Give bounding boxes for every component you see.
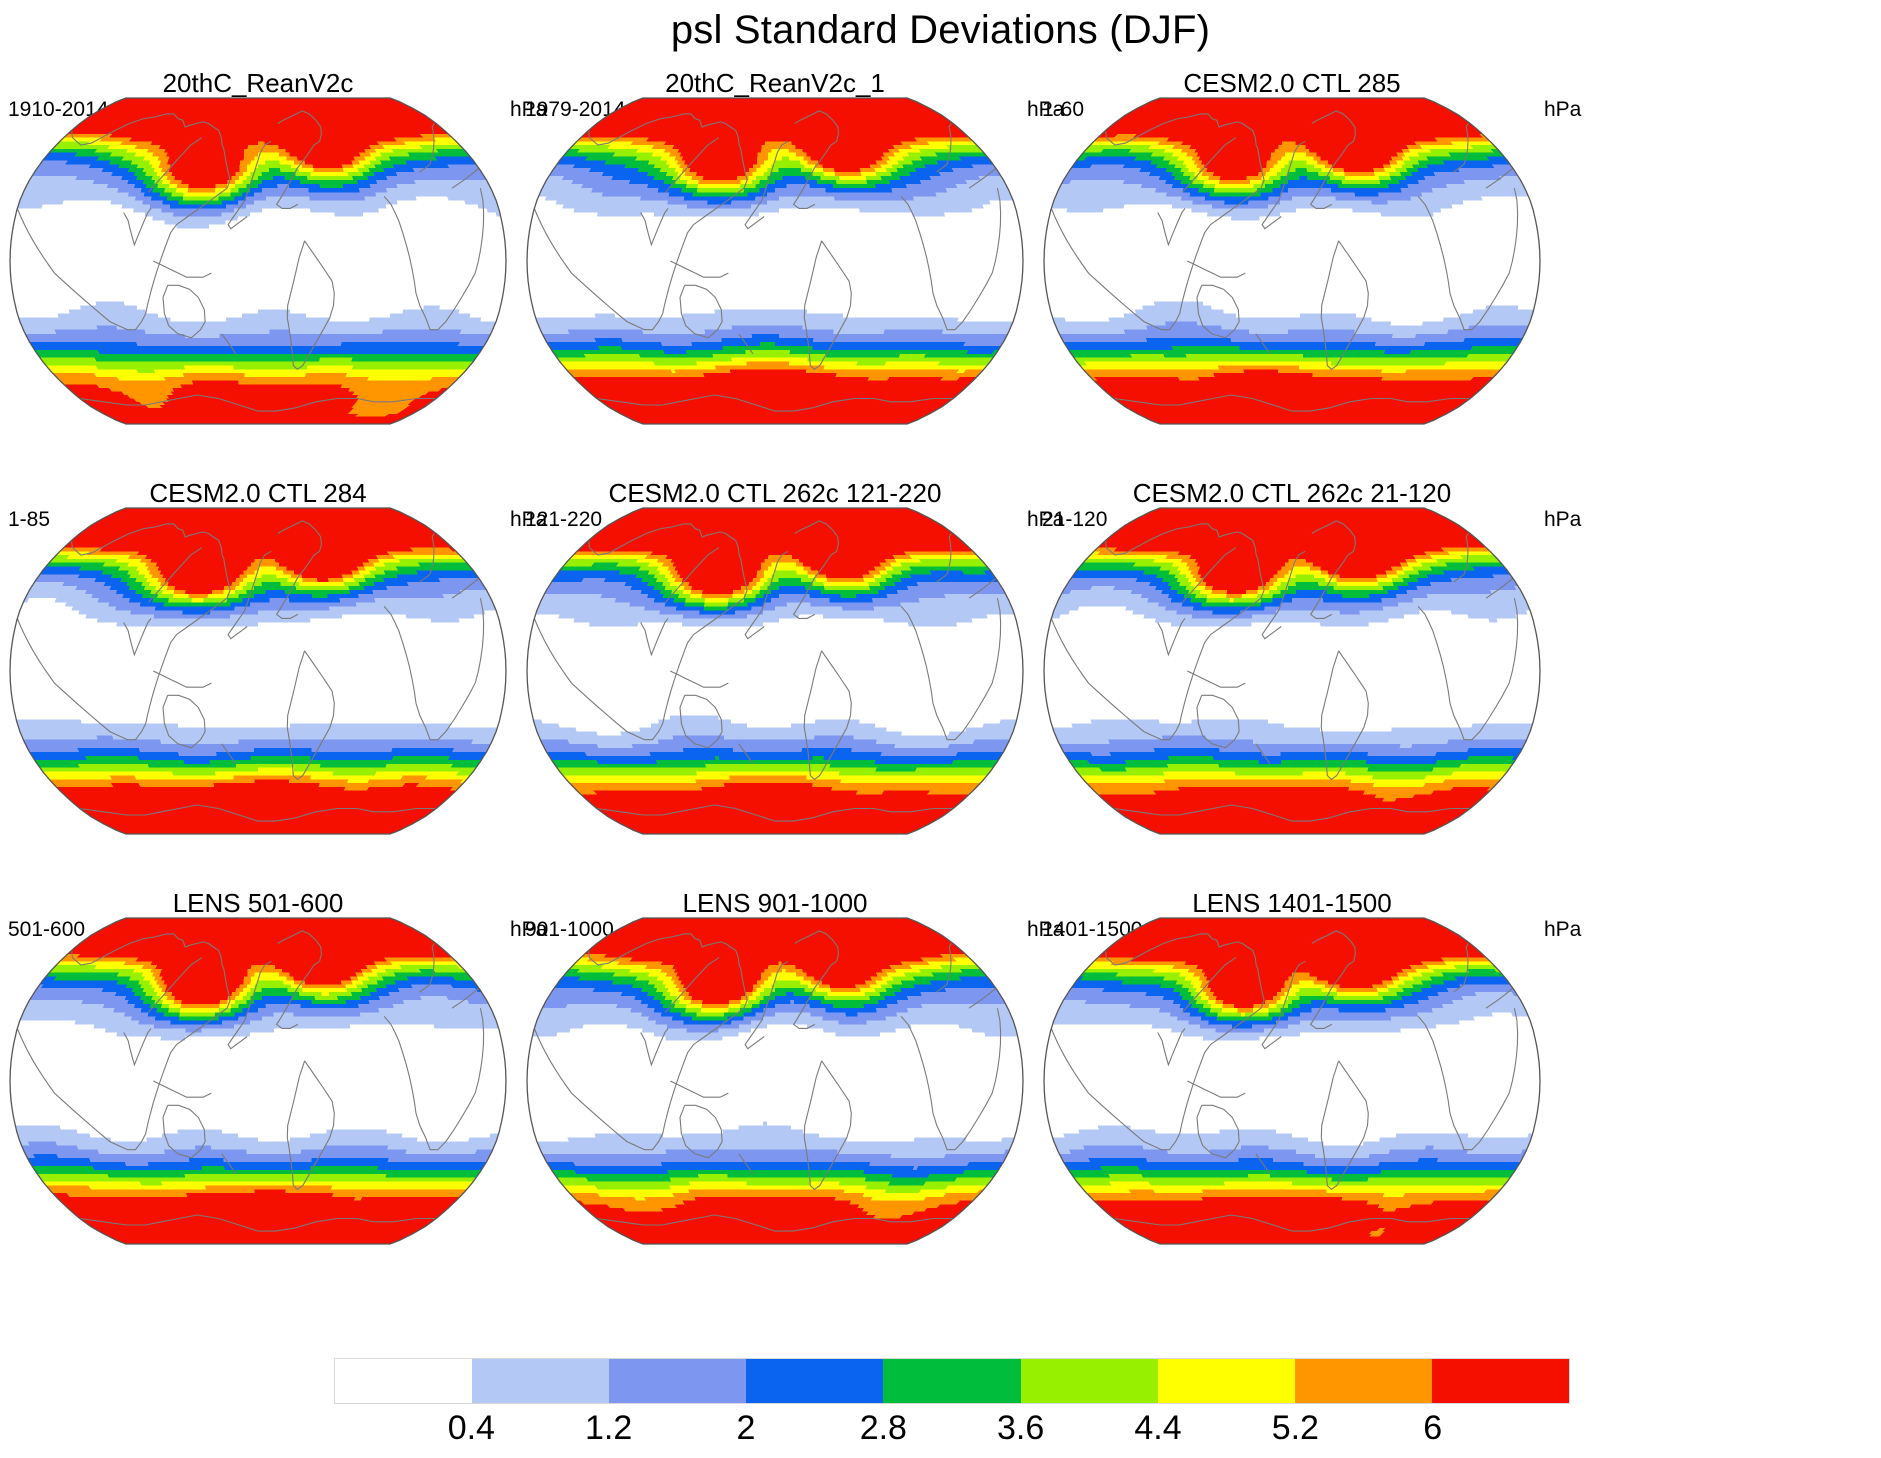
colorbar-segment[interactable] <box>609 1359 746 1403</box>
colorbar-segment[interactable] <box>335 1359 472 1403</box>
panel-title: 20thC_ReanV2c <box>8 68 508 98</box>
colorbar-segment[interactable] <box>1021 1359 1158 1403</box>
colorbar: 0.41.222.83.64.45.26 <box>334 1358 1570 1458</box>
colorbar-tick: 6 <box>1423 1406 1442 1450</box>
panel-units-label: hPa <box>1544 98 1581 122</box>
world-map[interactable] <box>525 506 1025 836</box>
panel-title: CESM2.0 CTL 285 <box>1042 68 1542 98</box>
colorbar-strip[interactable] <box>334 1358 1570 1404</box>
world-map[interactable] <box>8 506 508 836</box>
colorbar-tick: 3.6 <box>997 1406 1044 1450</box>
colorbar-segment[interactable] <box>1432 1359 1569 1403</box>
colorbar-segment[interactable] <box>883 1359 1020 1403</box>
world-map[interactable] <box>525 916 1025 1246</box>
panel-title: LENS 1401-1500 <box>1042 888 1542 918</box>
map-panel: LENS 1401-15001401-1500hPa <box>1042 888 1880 1253</box>
panel-title: CESM2.0 CTL 262c 21-120 <box>1042 478 1542 508</box>
map-panel: CESM2.0 CTL 2851-60hPa <box>1042 68 1880 433</box>
colorbar-segment[interactable] <box>472 1359 609 1403</box>
world-map[interactable] <box>8 916 508 1246</box>
colorbar-segment[interactable] <box>746 1359 883 1403</box>
colorbar-segment[interactable] <box>1158 1359 1295 1403</box>
world-map[interactable] <box>1042 916 1542 1246</box>
world-map[interactable] <box>525 96 1025 426</box>
panel-units-label: hPa <box>1544 918 1581 942</box>
colorbar-tick: 4.4 <box>1134 1406 1181 1450</box>
panel-title: LENS 501-600 <box>8 888 508 918</box>
figure-title: psl Standard Deviations (DJF) <box>0 4 1881 56</box>
colorbar-tick: 2 <box>737 1406 756 1450</box>
colorbar-segment[interactable] <box>1295 1359 1432 1403</box>
panel-units-label: hPa <box>1544 508 1581 532</box>
world-map[interactable] <box>8 96 508 426</box>
colorbar-tick-labels: 0.41.222.83.64.45.26 <box>334 1406 1570 1452</box>
world-map[interactable] <box>1042 506 1542 836</box>
colorbar-tick: 5.2 <box>1272 1406 1319 1450</box>
panel-title: CESM2.0 CTL 262c 121-220 <box>525 478 1025 508</box>
world-map[interactable] <box>1042 96 1542 426</box>
map-panel: CESM2.0 CTL 262c 21-12021-120hPa <box>1042 478 1880 843</box>
figure-root: psl Standard Deviations (DJF) 20thC_Rean… <box>0 0 1881 1440</box>
panel-title: LENS 901-1000 <box>525 888 1025 918</box>
colorbar-tick: 2.8 <box>860 1406 907 1450</box>
colorbar-tick: 1.2 <box>585 1406 632 1450</box>
panel-title: CESM2.0 CTL 284 <box>8 478 508 508</box>
colorbar-tick: 0.4 <box>448 1406 495 1450</box>
panel-title: 20thC_ReanV2c_1 <box>525 68 1025 98</box>
